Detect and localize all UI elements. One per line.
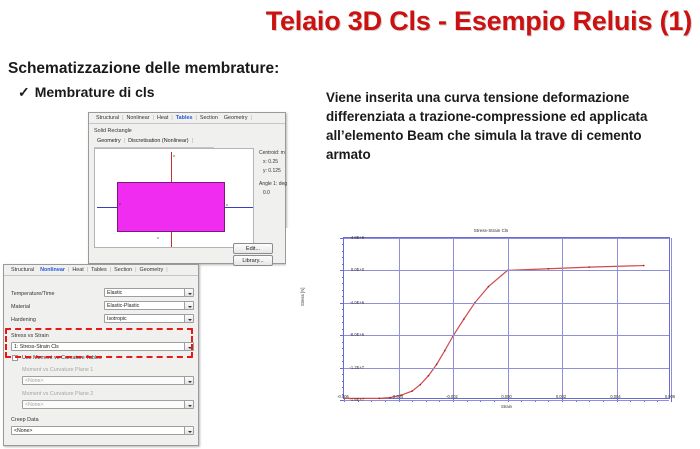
centroid-label: Centroid: m: [259, 149, 285, 158]
stress-vs-strain-value: 1: Stress-Strain Cls: [14, 344, 59, 350]
chart-ytick-label: 0.0E+0: [324, 267, 364, 272]
tab-section[interactable]: Section: [111, 267, 135, 273]
chart-gridline-vertical: [453, 238, 454, 398]
chart-ytick-minor: [342, 277, 344, 278]
tab-heat[interactable]: Heat: [154, 115, 171, 121]
chart-gridline-horizontal: [344, 303, 669, 304]
subtab-geometry[interactable]: Geometry: [94, 138, 124, 144]
chart-gridline-vertical: [562, 238, 563, 398]
chart-ytick-label: -8.0E+6: [324, 332, 364, 337]
chart-gridline-horizontal: [344, 400, 669, 401]
chevron-down-icon[interactable]: [184, 289, 193, 296]
page-title: Telaio 3D Cls - Esempio Reluis (1): [266, 6, 692, 37]
centroid-y-value: y: 0.125: [259, 167, 285, 176]
axis-label-x-right: x: [226, 202, 228, 207]
chart-xtick-label: 0.004: [610, 394, 620, 399]
checkmark-icon: ✓: [18, 84, 30, 100]
section-heading: Schematizzazione delle membrature:: [8, 60, 279, 78]
chart-gridline-vertical: [671, 238, 672, 398]
chart-title: Stress-Strain Cls: [286, 228, 696, 233]
axis-label-z: z: [173, 153, 175, 158]
chart-ytick-label: -1.2E+7: [324, 365, 364, 370]
axis-label-y: y: [119, 201, 121, 206]
chart-ytick-minor: [342, 244, 344, 245]
chart-ytick-minor: [342, 387, 344, 388]
section-subtitle: Solid Rectangle: [94, 128, 132, 134]
chart-ytick-minor: [342, 316, 344, 317]
tab-separator: |: [251, 115, 252, 121]
tab-tables[interactable]: Tables: [173, 115, 196, 121]
chevron-down-icon[interactable]: [184, 377, 193, 384]
section-dialog-tabbar[interactable]: Structural|Nonlinear|Heat|Tables|Section…: [89, 113, 285, 124]
chart-ytick-label: -4.0E+6: [324, 300, 364, 305]
chevron-down-icon[interactable]: [184, 401, 193, 408]
chart-ytick-minor: [342, 329, 344, 330]
moment-plane-2-select[interactable]: <None>: [22, 400, 194, 409]
chevron-down-icon[interactable]: [184, 302, 193, 309]
tab-section[interactable]: Section: [197, 115, 221, 121]
chevron-down-icon[interactable]: [184, 427, 193, 434]
angle-label: Angle 1: deg: [259, 180, 285, 189]
hardening-label: Hardening: [11, 317, 36, 323]
chevron-down-icon[interactable]: [184, 315, 193, 322]
moment-plane-1-label: Moment vs Curvature Plane 1: [22, 367, 93, 373]
creep-data-label: Creep Data: [11, 417, 39, 423]
title-bar: Telaio 3D Cls - Esempio Reluis (1): [0, 0, 700, 48]
chart-gridline-horizontal: [344, 238, 669, 239]
chart-xtick-label: -0.004: [392, 394, 404, 399]
chart-ytick-minor: [342, 361, 344, 362]
chevron-down-icon[interactable]: [184, 343, 193, 350]
section-shape-rectangle[interactable]: [117, 182, 225, 232]
tab-nonlinear[interactable]: Nonlinear: [37, 267, 68, 273]
chart-ytick-minor: [342, 290, 344, 291]
hardening-select[interactable]: Isotropic: [104, 314, 194, 323]
section-subtabbar[interactable]: Geometry|Discretisation (Nonlinear)|: [94, 138, 214, 148]
chart-plot-area[interactable]: [343, 237, 670, 399]
tab-nonlinear[interactable]: Nonlinear: [123, 115, 152, 121]
chart-ytick-minor: [342, 374, 344, 375]
bullet-label: Membrature di cls: [35, 84, 155, 100]
moment-plane-2-value: <None>: [25, 402, 43, 408]
material-value: Elastic-Plastic: [107, 303, 139, 309]
material-dialog-tabbar[interactable]: StructuralNonlinear|Heat|Tables|Section|…: [4, 265, 198, 276]
chart-ytick-minor: [342, 342, 344, 343]
tab-separator: |: [166, 267, 167, 273]
chart-ytick-minor: [342, 296, 344, 297]
edit-button[interactable]: Edit...: [233, 243, 273, 254]
chart-xtick-label: 0.002: [556, 394, 566, 399]
moment-plane-2-label: Moment vs Curvature Plane 2: [22, 391, 93, 397]
creep-data-select[interactable]: <None>: [11, 426, 194, 435]
chart-xtick-minor: [671, 400, 672, 402]
chart-gridline-vertical: [508, 238, 509, 398]
chart-gridline-horizontal: [344, 335, 669, 336]
creep-data-value: <None>: [14, 428, 32, 434]
chart-ytick-minor: [342, 251, 344, 252]
tab-separator: |: [192, 138, 193, 144]
chart-gridline-vertical: [617, 238, 618, 398]
chart-gridline-horizontal: [344, 270, 669, 271]
description-paragraph: Viene inserita una curva tensione deform…: [326, 88, 686, 164]
tab-structural[interactable]: Structural: [8, 267, 37, 273]
stress-strain-chart-panel: Stress-Strain Cls Strain Stress [N] -0.0…: [286, 228, 696, 446]
chart-ytick-minor: [342, 283, 344, 284]
chart-ytick-minor: [342, 355, 344, 356]
x-axis-title: Strain: [343, 404, 670, 409]
use-moment-tables-label: Use Moment vs Curvature Tables: [22, 355, 102, 361]
chart-ytick-minor: [342, 257, 344, 258]
material-select[interactable]: Elastic-Plastic: [104, 301, 194, 310]
tab-structural[interactable]: Structural: [93, 115, 122, 121]
section-properties-dialog: Structural|Nonlinear|Heat|Tables|Section…: [88, 112, 286, 264]
tab-geometry[interactable]: Geometry: [221, 115, 251, 121]
chart-ytick-minor: [342, 322, 344, 323]
chart-ytick-label: -1.6E+7: [324, 397, 364, 402]
use-moment-tables-checkbox[interactable]: [12, 355, 18, 361]
axis-label-x: x: [157, 235, 159, 240]
moment-plane-1-value: <None>: [25, 378, 43, 384]
section-geometry-canvas[interactable]: z y x x: [94, 148, 254, 248]
bullet-item-membrature-cls: ✓Membrature di cls: [18, 84, 155, 101]
subtab-discretisation[interactable]: Discretisation (Nonlinear): [125, 138, 192, 144]
temperature-time-value: Elastic: [107, 290, 122, 296]
temperature-time-select[interactable]: Elastic: [104, 288, 194, 297]
tab-geometry[interactable]: Geometry: [137, 267, 167, 273]
material-label: Material: [11, 304, 30, 310]
tab-tables[interactable]: Tables: [88, 267, 110, 273]
chart-gridline-horizontal: [344, 368, 669, 369]
library-button[interactable]: Library...: [233, 255, 273, 266]
chart-xtick-label: -0.002: [446, 394, 458, 399]
chart-xtick-label: 0.006: [665, 394, 675, 399]
centroid-x-value: x: 0.25: [259, 158, 285, 167]
hardening-value: Isotropic: [107, 316, 127, 322]
chart-ytick-minor: [342, 381, 344, 382]
temperature-time-label: Temperature/Time: [11, 291, 55, 297]
chart-ytick-label: 4.0E+6: [324, 235, 364, 240]
angle-value: 0.0: [259, 189, 285, 198]
tab-heat[interactable]: Heat: [69, 267, 86, 273]
section-info-panel: Centroid: m x: 0.25 y: 0.125 Angle 1: de…: [259, 149, 285, 198]
chart-ytick-minor: [342, 348, 344, 349]
moment-plane-1-select[interactable]: <None>: [22, 376, 194, 385]
chart-ytick-minor: [342, 264, 344, 265]
stress-vs-strain-select[interactable]: 1: Stress-Strain Cls: [11, 342, 194, 351]
stress-vs-strain-label: Stress vs Strain: [11, 333, 49, 339]
chart-xtick-label: 0.000: [501, 394, 511, 399]
material-properties-dialog: StructuralNonlinear|Heat|Tables|Section|…: [3, 264, 199, 446]
chart-ytick-minor: [342, 309, 344, 310]
chart-gridline-vertical: [399, 238, 400, 398]
y-axis-title: Stress [N]: [300, 288, 305, 306]
